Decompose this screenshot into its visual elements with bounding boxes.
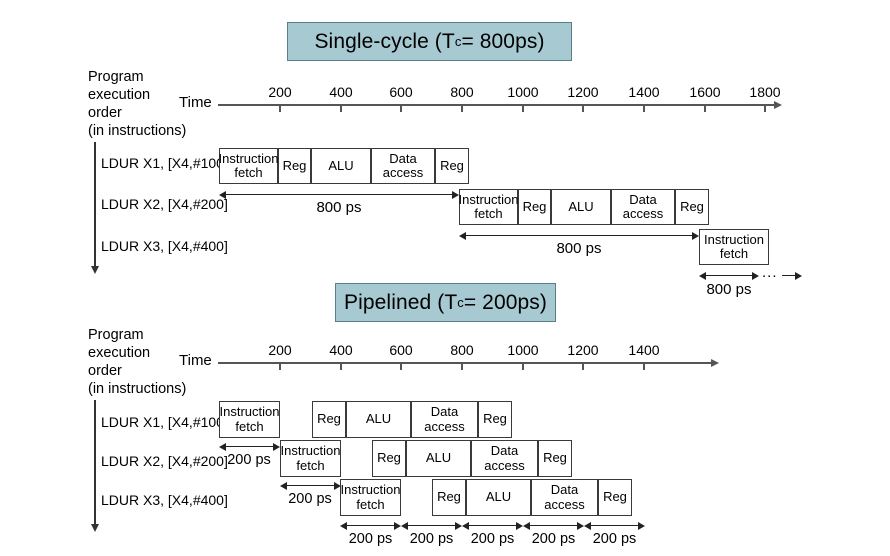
single-cycle-axis-arrow-icon bbox=[774, 101, 782, 109]
tick-mark bbox=[582, 105, 584, 112]
measure-arrow-200ps-bottom-5 bbox=[584, 521, 645, 530]
caption-line-1: Program bbox=[88, 326, 186, 344]
measure-arrow-200ps-bottom-2 bbox=[401, 521, 462, 530]
instruction-label-ldur-x1: LDUR X1, [X4,#100] bbox=[101, 414, 228, 430]
pipelined-program-order-caption: Program execution order (in instructions… bbox=[88, 326, 186, 398]
arrow-right-head-icon bbox=[752, 272, 759, 280]
axis-tick-label: 1800 bbox=[735, 84, 795, 100]
tick-mark bbox=[340, 363, 342, 370]
single-cycle-axis-line bbox=[218, 104, 774, 106]
axis-tick-label: 400 bbox=[311, 84, 371, 100]
measure-arrow-800ps-row2 bbox=[459, 231, 699, 240]
stage-box-reg: Reg bbox=[312, 401, 346, 438]
instruction-label-ldur-x3: LDUR X3, [X4,#400] bbox=[101, 492, 228, 508]
single-cycle-banner-prefix: Single-cycle (T bbox=[314, 30, 454, 54]
arrow-bar bbox=[468, 525, 517, 526]
measure-arrow-800ps-row1 bbox=[219, 190, 459, 199]
stage-box-data-access: Data access bbox=[371, 148, 435, 184]
axis-tick-label: 600 bbox=[371, 342, 431, 358]
arrow-bar bbox=[465, 235, 693, 236]
caption-line-2: execution bbox=[88, 86, 186, 104]
single-cycle-program-order-arrow-line bbox=[94, 142, 96, 267]
axis-tick-label: 800 bbox=[432, 342, 492, 358]
arrow-right-head-icon bbox=[455, 522, 462, 530]
caption-line-3: order bbox=[88, 362, 186, 380]
axis-tick-label: 1200 bbox=[553, 342, 613, 358]
arrow-right-head-icon bbox=[795, 272, 802, 280]
measure-label-200ps-bottom-5: 200 ps bbox=[579, 531, 650, 547]
stage-box-instruction-fetch: Instruction fetch bbox=[219, 401, 280, 438]
axis-tick-label: 400 bbox=[311, 342, 371, 358]
tick-mark bbox=[522, 363, 524, 370]
axis-tick-label: 1400 bbox=[614, 342, 674, 358]
pipelined-banner-prefix: Pipelined (T bbox=[344, 291, 457, 315]
arrow-right-head-icon bbox=[273, 443, 280, 451]
pipelined-banner-suffix: = 200ps) bbox=[464, 291, 547, 315]
stage-box-reg: Reg bbox=[675, 189, 709, 225]
pipelined-program-order-arrow-line bbox=[94, 400, 96, 525]
tick-mark bbox=[400, 363, 402, 370]
measure-label-800ps-row1: 800 ps bbox=[219, 199, 459, 216]
stage-box-reg: Reg bbox=[518, 189, 551, 225]
measure-arrow-800ps-row3 bbox=[699, 271, 759, 280]
single-cycle-time-axis-label: Time bbox=[179, 94, 212, 111]
arrow-bar bbox=[225, 194, 453, 195]
stage-box-reg: Reg bbox=[478, 401, 512, 438]
single-cycle-banner-subscript: c bbox=[455, 34, 462, 49]
single-cycle-program-order-caption: Program execution order (in instructions… bbox=[88, 68, 186, 140]
stage-box-instruction-fetch: Instruction fetch bbox=[340, 479, 401, 516]
caption-line-4: (in instructions) bbox=[88, 122, 186, 140]
instruction-label-ldur-x2: LDUR X2, [X4,#200] bbox=[101, 453, 228, 469]
stage-box-data-access: Data access bbox=[531, 479, 598, 516]
arrow-right-head-icon bbox=[577, 522, 584, 530]
tick-mark bbox=[643, 363, 645, 370]
stage-box-alu: ALU bbox=[346, 401, 411, 438]
measure-arrow-200ps-bottom-3 bbox=[462, 521, 523, 530]
arrow-bar bbox=[225, 446, 274, 447]
single-cycle-banner-suffix: = 800ps) bbox=[461, 30, 544, 54]
arrow-bar bbox=[346, 525, 395, 526]
axis-tick-label: 600 bbox=[371, 84, 431, 100]
caption-line-4: (in instructions) bbox=[88, 380, 186, 398]
arrow-bar bbox=[529, 525, 578, 526]
stage-box-instruction-fetch: Instruction fetch bbox=[459, 189, 518, 225]
measure-label-800ps-row2: 800 ps bbox=[459, 240, 699, 257]
arrow-right-head-icon bbox=[516, 522, 523, 530]
stage-box-alu: ALU bbox=[406, 440, 471, 477]
tick-mark bbox=[279, 105, 281, 112]
measure-label-800ps-row3: 800 ps bbox=[689, 281, 769, 298]
measure-arrow-200ps-row2 bbox=[219, 442, 280, 451]
tick-mark bbox=[340, 105, 342, 112]
measure-arrow-200ps-bottom-4 bbox=[523, 521, 584, 530]
pipelined-banner: Pipelined (Tc= 200ps) bbox=[335, 283, 556, 322]
pipelined-axis-line bbox=[218, 362, 711, 364]
axis-tick-label: 200 bbox=[250, 84, 310, 100]
caption-line-3: order bbox=[88, 104, 186, 122]
stage-box-reg: Reg bbox=[278, 148, 311, 184]
tick-mark bbox=[764, 105, 766, 112]
instruction-label-ldur-x2: LDUR X2, [X4,#200] bbox=[101, 196, 228, 212]
ellipsis-label: ... bbox=[762, 264, 778, 281]
stage-box-data-access: Data access bbox=[471, 440, 538, 477]
stage-box-reg: Reg bbox=[435, 148, 469, 184]
arrow-right-head-icon bbox=[638, 522, 645, 530]
axis-tick-label: 1200 bbox=[553, 84, 613, 100]
instruction-label-ldur-x1: LDUR X1, [X4,#100] bbox=[101, 155, 228, 171]
axis-tick-label: 200 bbox=[250, 342, 310, 358]
stage-box-reg: Reg bbox=[538, 440, 572, 477]
arrow-right-head-icon bbox=[394, 522, 401, 530]
stage-box-instruction-fetch: Instruction fetch bbox=[699, 229, 769, 265]
caption-line-2: execution bbox=[88, 344, 186, 362]
axis-tick-label: 800 bbox=[432, 84, 492, 100]
continuation-arrow-icon bbox=[782, 271, 802, 280]
pipelined-time-axis-label: Time bbox=[179, 352, 212, 369]
arrow-bar bbox=[286, 485, 335, 486]
pipelined-program-order-arrow-tip-icon bbox=[91, 524, 99, 532]
arrow-bar bbox=[407, 525, 456, 526]
stage-box-alu: ALU bbox=[551, 189, 611, 225]
single-cycle-program-order-arrow-tip-icon bbox=[91, 266, 99, 274]
measure-arrow-200ps-bottom-1 bbox=[340, 521, 401, 530]
arrow-right-head-icon bbox=[692, 232, 699, 240]
stage-box-alu: ALU bbox=[466, 479, 531, 516]
measure-arrow-200ps-row3 bbox=[280, 481, 341, 490]
caption-line-1: Program bbox=[88, 68, 186, 86]
axis-tick-label: 1600 bbox=[675, 84, 735, 100]
pipelined-axis-arrow-icon bbox=[711, 359, 719, 367]
tick-mark bbox=[461, 363, 463, 370]
measure-label-200ps-row2: 200 ps bbox=[214, 452, 284, 468]
arrow-bar bbox=[705, 275, 753, 276]
stage-box-alu: ALU bbox=[311, 148, 371, 184]
figure-root: Single-cycle (Tc= 800ps) Program executi… bbox=[0, 0, 890, 556]
tick-mark bbox=[279, 363, 281, 370]
stage-box-reg: Reg bbox=[372, 440, 406, 477]
single-cycle-banner: Single-cycle (Tc= 800ps) bbox=[287, 22, 572, 61]
tick-mark bbox=[461, 105, 463, 112]
axis-tick-label: 1000 bbox=[493, 342, 553, 358]
instruction-label-ldur-x3: LDUR X3, [X4,#400] bbox=[101, 238, 228, 254]
stage-box-instruction-fetch: Instruction fetch bbox=[280, 440, 341, 477]
stage-box-reg: Reg bbox=[598, 479, 632, 516]
arrow-bar bbox=[782, 275, 796, 276]
pipelined-banner-subscript: c bbox=[457, 295, 464, 310]
stage-box-data-access: Data access bbox=[411, 401, 478, 438]
axis-tick-label: 1400 bbox=[614, 84, 674, 100]
tick-mark bbox=[400, 105, 402, 112]
tick-mark bbox=[522, 105, 524, 112]
arrow-bar bbox=[590, 525, 639, 526]
tick-mark bbox=[704, 105, 706, 112]
measure-label-200ps-row3: 200 ps bbox=[275, 491, 345, 507]
tick-mark bbox=[582, 363, 584, 370]
stage-box-instruction-fetch: Instruction fetch bbox=[219, 148, 278, 184]
stage-box-reg: Reg bbox=[432, 479, 466, 516]
stage-box-data-access: Data access bbox=[611, 189, 675, 225]
tick-mark bbox=[643, 105, 645, 112]
axis-tick-label: 1000 bbox=[493, 84, 553, 100]
